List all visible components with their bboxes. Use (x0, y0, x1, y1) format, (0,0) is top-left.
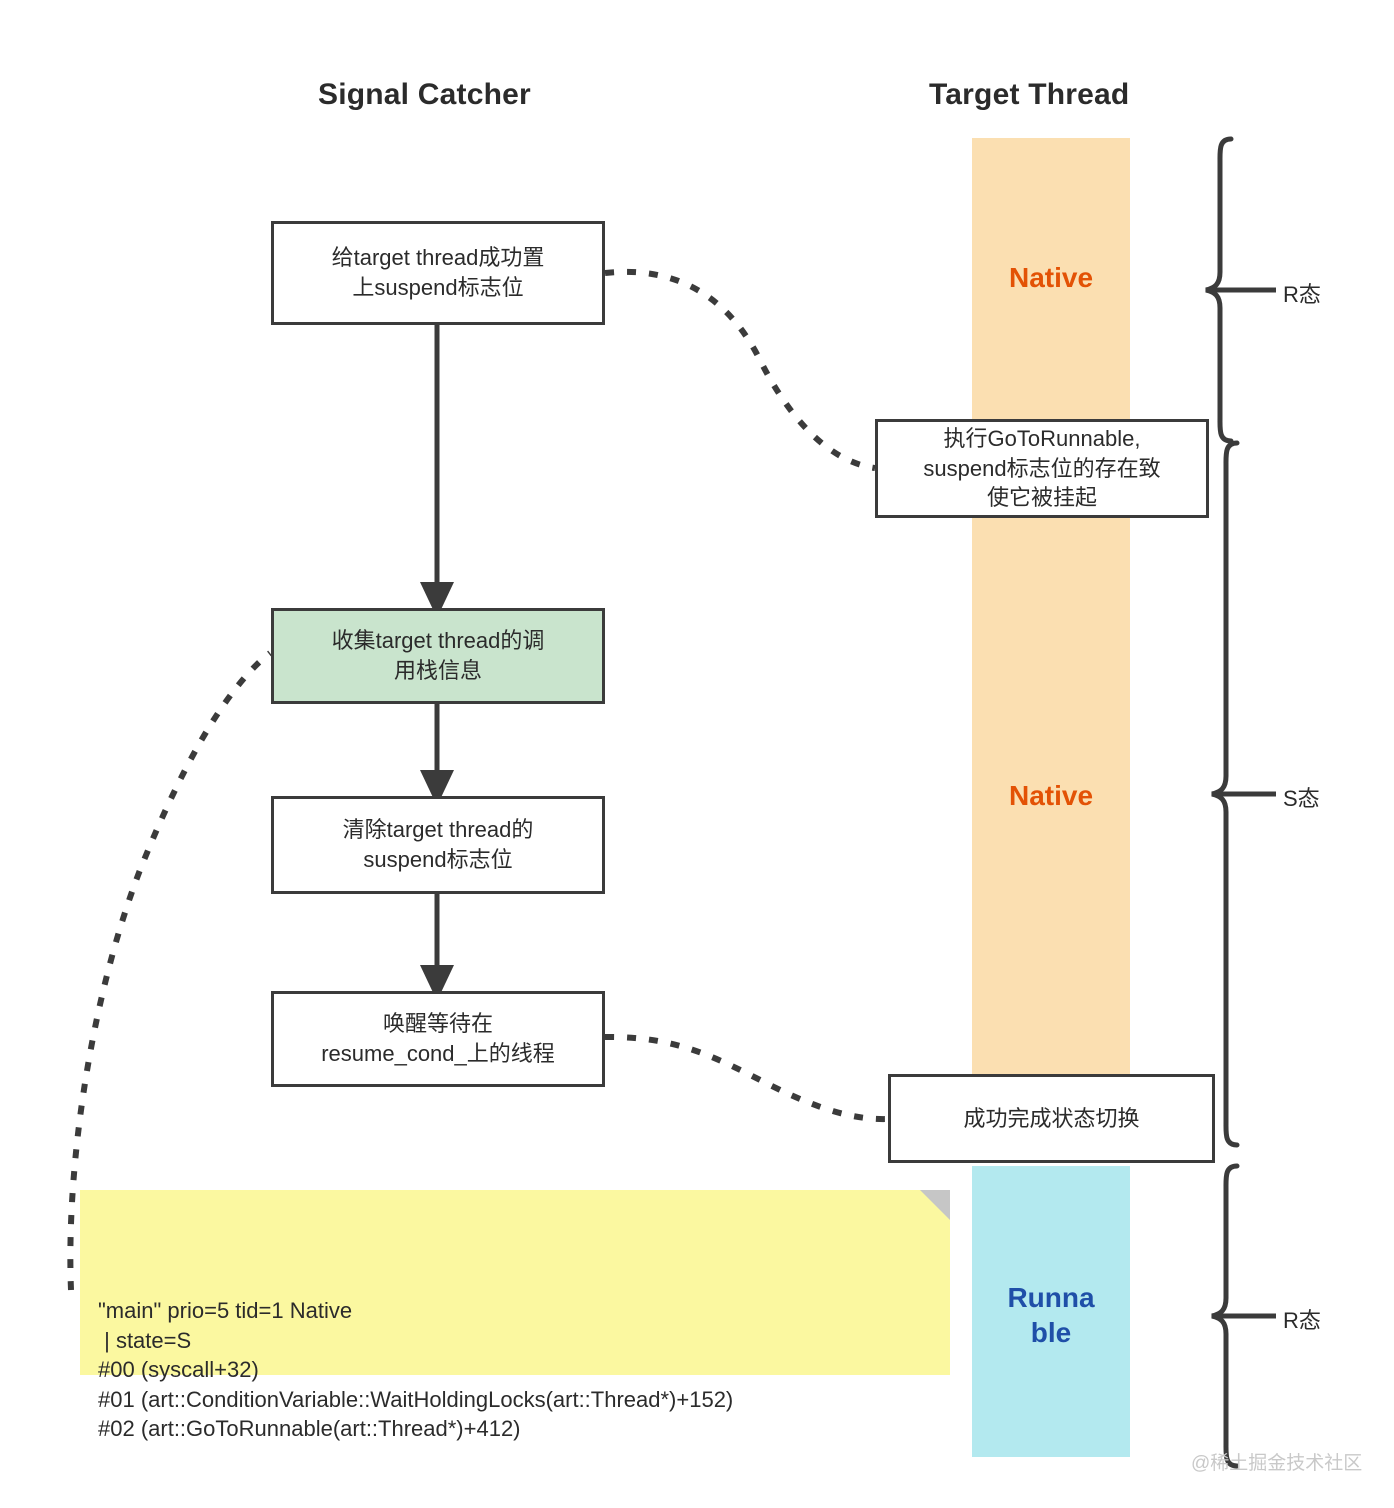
diagram-canvas: Signal Catcher Target Thread Native Nati… (0, 0, 1394, 1508)
lane-label-runnable-line1: Runna (1007, 1282, 1094, 1313)
box-set-suspend-line1: 给target thread成功置 (332, 245, 545, 270)
sticky-note-stack-trace[interactable]: "main" prio=5 tid=1 Native | state=S #00… (80, 1190, 950, 1375)
dotted-connector-set-to-goto (605, 272, 875, 468)
note-fold-corner (920, 1190, 950, 1220)
lane-label-runnable-line2: ble (1031, 1317, 1071, 1348)
column-title-signal-catcher: Signal Catcher (318, 78, 531, 112)
brace-label-s-state: S态 (1283, 781, 1320, 813)
box-collect-stack-line2: 用栈信息 (394, 658, 482, 683)
box-collect-stack-line1: 收集target thread的调 (332, 628, 545, 653)
box-goto-runnable-line3: 使它被挂起 (987, 485, 1097, 510)
lane-label-native-lower: Native (972, 778, 1130, 813)
brace-top-r-state (1206, 139, 1231, 441)
lane-label-runnable: Runna ble (972, 1280, 1130, 1350)
box-set-suspend-flag[interactable]: 给target thread成功置 上suspend标志位 (271, 221, 605, 325)
box-state-switch-success[interactable]: 成功完成状态切换 (888, 1074, 1215, 1163)
brace-label-r-state-bottom: R态 (1283, 1303, 1321, 1335)
dotted-connector-wake-to-state (605, 1037, 888, 1119)
box-clear-suspend-line1: 清除target thread的 (343, 817, 534, 842)
box-goto-runnable-line2: suspend标志位的存在致 (923, 456, 1160, 481)
box-wake-resume-cond-threads[interactable]: 唤醒等待在 resume_cond_上的线程 (271, 991, 605, 1087)
box-clear-suspend-line2: suspend标志位 (363, 847, 512, 872)
brace-label-r-state-top: R态 (1283, 277, 1321, 309)
box-clear-suspend-flag[interactable]: 清除target thread的 suspend标志位 (271, 796, 605, 894)
box-collect-stack-info[interactable]: 收集target thread的调 用栈信息 (271, 608, 605, 704)
lane-label-native-upper: Native (972, 260, 1130, 295)
box-wake-threads-line1: 唤醒等待在 (383, 1011, 493, 1036)
watermark: @稀土掘金技术社区 (1191, 1448, 1362, 1475)
note-text: "main" prio=5 tid=1 Native | state=S #00… (98, 1296, 932, 1443)
brace-middle-s-state (1212, 443, 1237, 1145)
box-goto-runnable-suspended[interactable]: 执行GoToRunnable, suspend标志位的存在致 使它被挂起 (875, 419, 1209, 518)
box-wake-threads-line2: resume_cond_上的线程 (321, 1041, 555, 1066)
box-goto-runnable-line1: 执行GoToRunnable, (944, 426, 1141, 451)
brace-bottom-r-state (1212, 1166, 1237, 1466)
box-state-switch-line1: 成功完成状态切换 (963, 1106, 1139, 1131)
box-set-suspend-line2: 上suspend标志位 (352, 275, 523, 300)
column-title-target-thread: Target Thread (929, 78, 1129, 112)
